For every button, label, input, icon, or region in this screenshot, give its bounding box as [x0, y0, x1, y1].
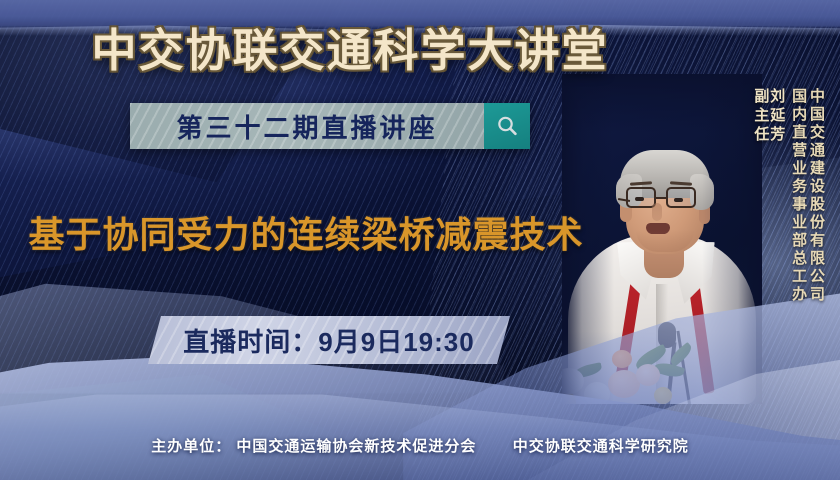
episode-banner: 第三十二期直播讲座: [130, 103, 530, 149]
schedule-plaque: 直播时间：9月9日19:30: [148, 316, 510, 364]
photo-glasses-bridge: [656, 197, 668, 199]
episode-label-container: 第三十二期直播讲座: [130, 103, 484, 149]
live-lecture-poster: 中交协联交通科学大讲堂 第三十二期直播讲座 基于协同受力的连续梁桥减震技术 直播…: [0, 0, 840, 480]
speaker-title: 副主任: [752, 88, 769, 145]
organizer-line: 主办单位： 中国交通运输协会新技术促进分会 中交协联交通科学研究院: [0, 435, 840, 456]
lecture-topic: 基于协同受力的连续梁桥减震技术: [0, 206, 612, 258]
search-icon[interactable]: [484, 103, 530, 149]
page-title: 中交协联交通科学大讲堂: [0, 14, 700, 79]
schedule-label: 直播时间：9月9日19:30: [183, 322, 474, 359]
photo-eye-left: [635, 197, 644, 201]
photo-nose: [652, 203, 662, 221]
organizer-primary: 中国交通运输协会新技术促进分会: [236, 438, 476, 455]
speaker-department: 国内直营业务事业部总工办: [790, 88, 806, 304]
speaker-name-block: 刘延芳 副主任: [752, 88, 784, 304]
episode-label: 第三十二期直播讲座: [176, 108, 437, 145]
speaker-credits: 刘延芳 副主任 国内直营业务事业部总工办 中国交通建设股份有限公司: [742, 88, 824, 304]
speaker-name: 刘延芳: [768, 88, 785, 145]
organizer-secondary: 中交协联交通科学研究院: [513, 438, 689, 455]
speaker-company: 中国交通建设股份有限公司: [808, 88, 824, 304]
organizer-prefix: 主办单位：: [151, 438, 231, 455]
photo-eye-right: [674, 198, 683, 202]
